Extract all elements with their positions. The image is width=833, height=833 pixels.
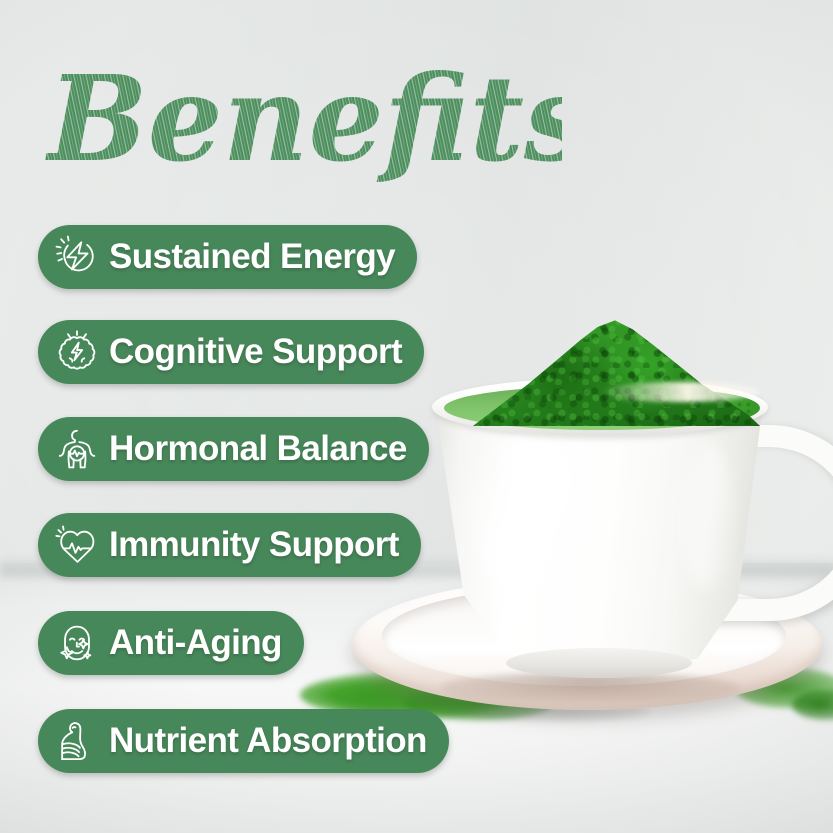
benefit-label: Anti-Aging <box>109 623 282 663</box>
cup-highlight <box>470 430 590 600</box>
flexed-bicep-icon <box>51 717 103 765</box>
heart-pulse-icon <box>51 521 103 569</box>
benefit-pill-sustained-energy[interactable]: Sustained Energy <box>38 225 417 289</box>
benefit-pill-hormonal-balance[interactable]: Hormonal Balance <box>38 417 429 481</box>
benefit-pill-anti-aging[interactable]: Anti-Aging <box>38 611 304 675</box>
body-heartbeat-icon <box>51 425 103 473</box>
benefit-label: Immunity Support <box>109 525 399 565</box>
cup-rim-highlight <box>600 382 760 402</box>
smiling-face-sparkle-icon <box>51 619 103 667</box>
benefit-label: Hormonal Balance <box>109 429 407 469</box>
benefit-pill-nutrient-absorption[interactable]: Nutrient Absorption <box>38 709 449 773</box>
benefit-pill-cognitive-support[interactable]: Cognitive Support <box>38 320 424 384</box>
lightning-bolt-circle-icon <box>51 233 103 281</box>
brain-bolt-icon <box>51 328 103 376</box>
benefit-label: Sustained Energy <box>109 237 395 277</box>
benefit-label: Nutrient Absorption <box>109 721 427 761</box>
benefit-pill-immunity-support[interactable]: Immunity Support <box>38 513 421 577</box>
benefits-poster: Hormonal Balance Immunity Support <box>0 0 833 833</box>
cup-base <box>506 648 692 678</box>
benefit-label: Cognitive Support <box>109 332 402 372</box>
cup-highlight <box>680 440 734 590</box>
